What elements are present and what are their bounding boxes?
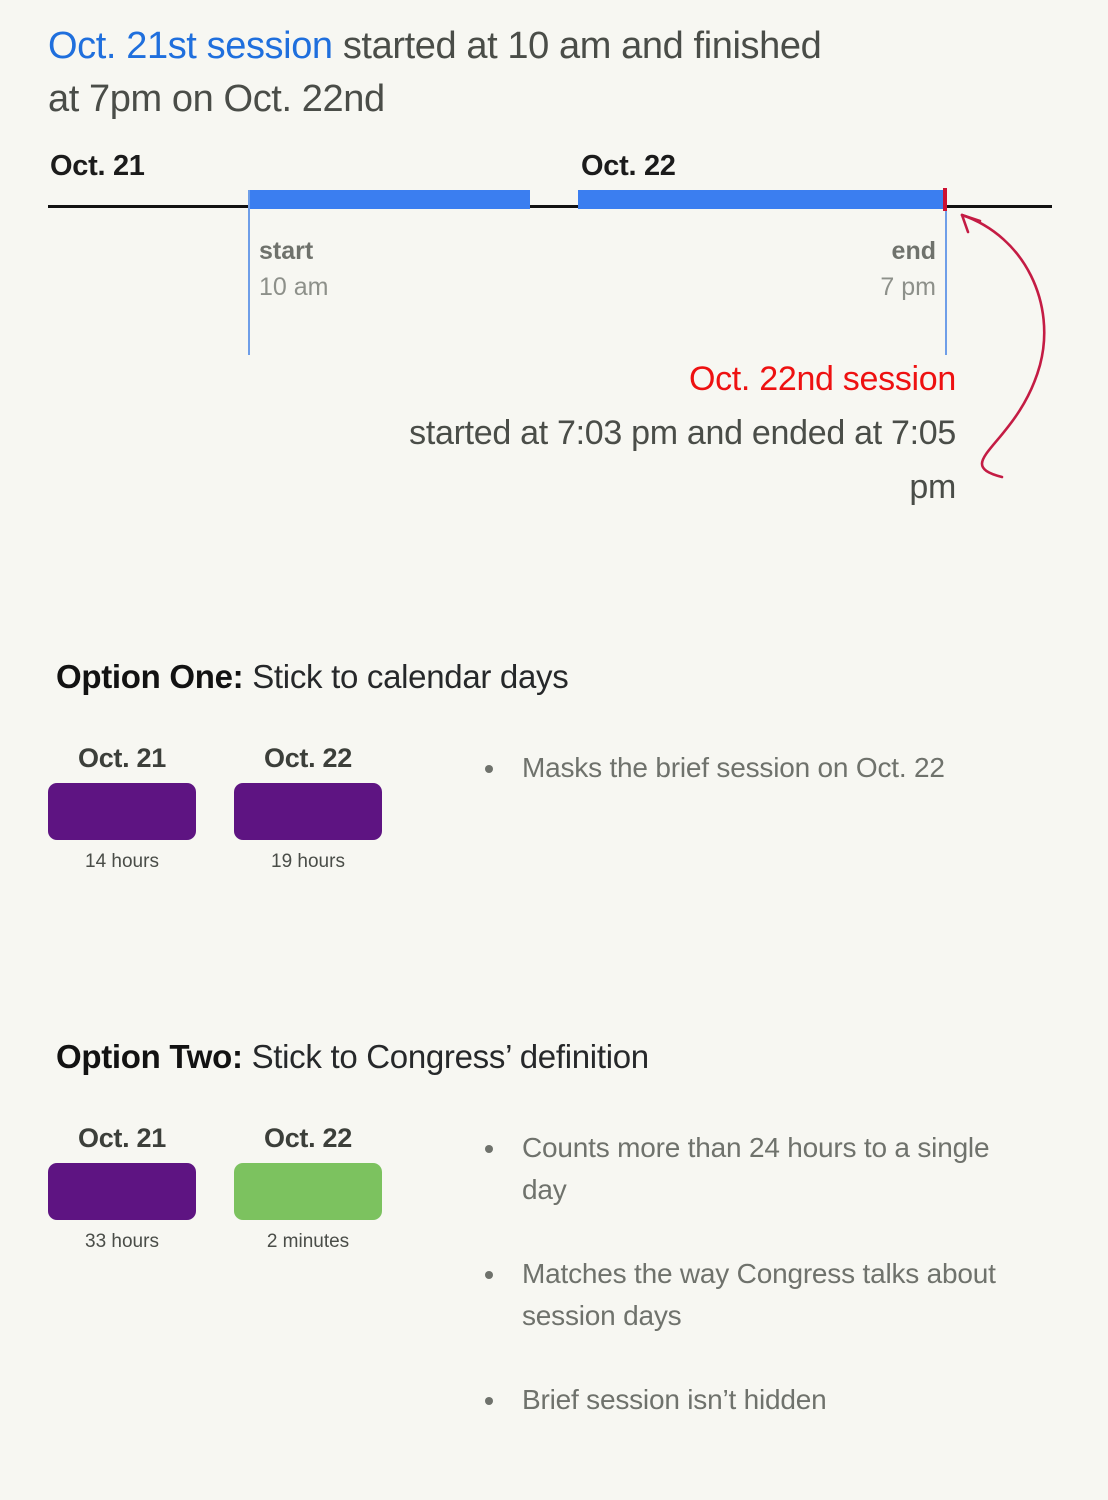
option-two-heading: Option Two: Stick to Congress’ definitio… (56, 1035, 649, 1079)
timeline-bar-oct21 (248, 190, 530, 209)
annotation-line3: ended at 7:05 pm (752, 414, 956, 506)
list-item: Counts more than 24 hours to a single da… (480, 1127, 1040, 1211)
bullet-dot-icon (485, 765, 493, 773)
end-label: end (700, 233, 936, 269)
start-label: start (259, 233, 328, 269)
swatch-box (234, 1163, 382, 1220)
start-time: 10 am (259, 269, 328, 305)
timeline-day-label-oct22: Oct. 22 (581, 150, 676, 183)
option-two-heading-bold: Option Two: (56, 1038, 243, 1075)
timeline-end-red-tick (943, 188, 947, 211)
bullet-text: Brief session isn’t hidden (522, 1384, 827, 1415)
timeline-start-note: start 10 am (259, 233, 328, 305)
option-one-heading: Option One: Stick to calendar days (56, 655, 568, 699)
headline-emphasis: Oct. 21st session (48, 25, 333, 67)
option-two-bullets: Counts more than 24 hours to a single da… (480, 1127, 1040, 1421)
bullet-dot-icon (485, 1397, 493, 1405)
swatch-group-oct22: Oct. 22 19 hours (234, 743, 382, 873)
headline: Oct. 21st session started at 10 am and f… (48, 20, 848, 126)
annotation-emphasis: Oct. 22nd session (400, 352, 956, 406)
swatch-box (234, 783, 382, 840)
timeline-end-note: end 7 pm (700, 233, 936, 305)
swatch-group-oct22: Oct. 22 2 minutes (234, 1123, 382, 1253)
timeline-bar-oct22 (578, 190, 946, 209)
bullet-dot-icon (485, 1145, 493, 1153)
annotation-line2: started at 7:03 pm and (409, 414, 743, 452)
swatch-day-label: Oct. 22 (234, 1123, 382, 1154)
bullet-text: Counts more than 24 hours to a single da… (522, 1132, 989, 1205)
session-timeline: Oct. 21 Oct. 22 start 10 am end 7 pm (0, 150, 1108, 330)
swatch-group-oct21: Oct. 21 14 hours (48, 743, 196, 873)
swatch-amount: 19 hours (234, 851, 382, 873)
swatch-day-label: Oct. 21 (48, 1123, 196, 1154)
option-one-bullets: Masks the brief session on Oct. 22 (480, 747, 1040, 789)
swatch-box (48, 1163, 196, 1220)
swatch-amount: 33 hours (48, 1231, 196, 1253)
swatch-amount: 14 hours (48, 851, 196, 873)
timeline-day-label-oct21: Oct. 21 (50, 150, 145, 183)
option-two-heading-rest: Stick to Congress’ definition (243, 1038, 649, 1075)
swatch-group-oct21: Oct. 21 33 hours (48, 1123, 196, 1253)
bullet-text: Matches the way Congress talks about ses… (522, 1258, 996, 1331)
infographic-canvas: Oct. 21st session started at 10 am and f… (0, 0, 1108, 1500)
timeline-start-marker-line (248, 190, 250, 355)
list-item: Masks the brief session on Oct. 22 (480, 747, 1040, 789)
bullet-text: Masks the brief session on Oct. 22 (522, 752, 945, 783)
option-one-heading-bold: Option One: (56, 658, 243, 695)
swatch-day-label: Oct. 22 (234, 743, 382, 774)
bullet-dot-icon (485, 1271, 493, 1279)
swatch-amount: 2 minutes (234, 1231, 382, 1253)
option-one-heading-rest: Stick to calendar days (243, 658, 568, 695)
swatch-day-label: Oct. 21 (48, 743, 196, 774)
brief-session-annotation: Oct. 22nd session started at 7:03 pm and… (400, 352, 956, 514)
list-item: Brief session isn’t hidden (480, 1379, 1040, 1421)
end-time: 7 pm (700, 269, 936, 305)
timeline-end-marker-line (945, 190, 947, 355)
list-item: Matches the way Congress talks about ses… (480, 1253, 1040, 1337)
swatch-box (48, 783, 196, 840)
